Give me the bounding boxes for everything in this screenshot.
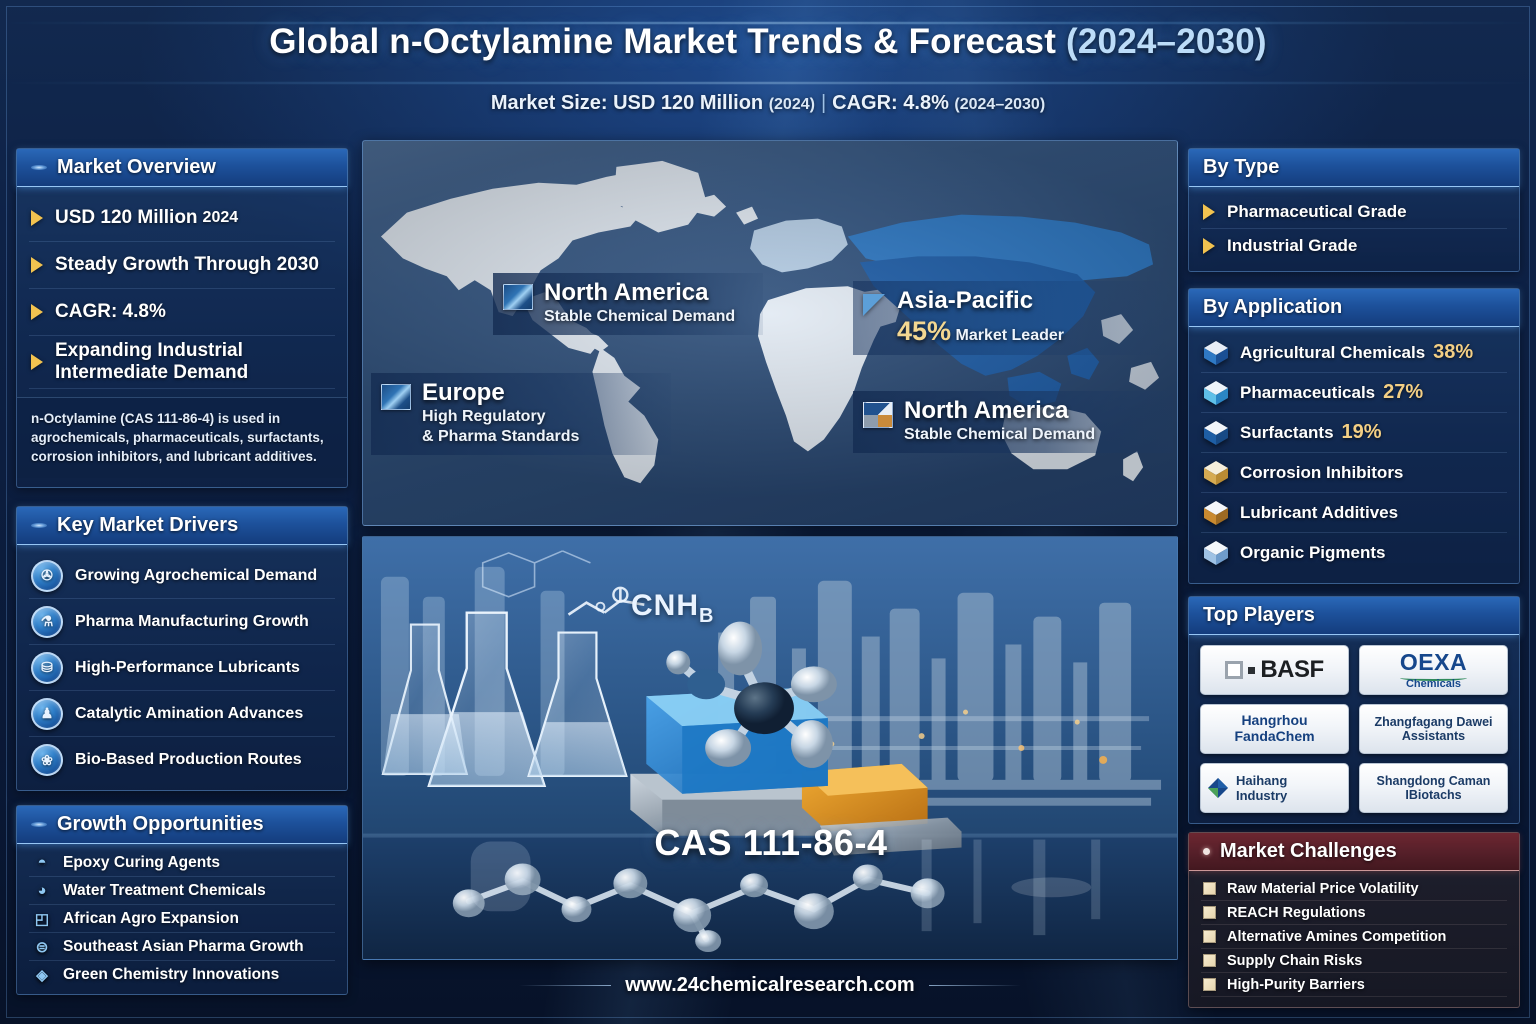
caman-line2: IBiotachs bbox=[1377, 788, 1491, 802]
list-item[interactable]: Lubricant Additives bbox=[1201, 493, 1507, 533]
water-drop-icon: ◕ bbox=[31, 880, 53, 902]
crop-field-icon: ✇ bbox=[31, 560, 63, 592]
basf-square-icon bbox=[1225, 661, 1243, 679]
challenge-label: Supply Chain Risks bbox=[1227, 953, 1362, 969]
dawei-line2: Assistants bbox=[1374, 729, 1492, 743]
logo-card-basf[interactable]: BASF bbox=[1200, 645, 1349, 695]
panel-header-top-players: Top Players bbox=[1189, 597, 1519, 635]
list-item[interactable]: Corrosion Inhibitors bbox=[1201, 453, 1507, 493]
list-item[interactable]: ♟ Catalytic Amination Advances bbox=[29, 691, 335, 737]
map-label-title: Europe bbox=[422, 380, 579, 405]
blue-cube-icon bbox=[1203, 340, 1229, 366]
application-label: Surfactants bbox=[1240, 423, 1334, 443]
haihang-diamond-icon bbox=[1207, 777, 1229, 799]
oil-drum-icon: ⛁ bbox=[31, 652, 63, 684]
application-label: Corrosion Inhibitors bbox=[1240, 463, 1403, 483]
triangle-bullet-icon bbox=[31, 354, 43, 370]
subtitle-cagr: CAGR: 4.8% bbox=[832, 92, 954, 114]
basf-logo: BASF bbox=[1225, 656, 1323, 684]
panel-header-growth-opportunities: Growth Opportunities bbox=[17, 806, 347, 844]
triangle-bullet-icon bbox=[31, 257, 43, 273]
list-item[interactable]: Raw Material Price Volatility bbox=[1201, 877, 1507, 901]
triangle-bullet-icon bbox=[31, 304, 43, 320]
lab-thumbnail-icon bbox=[503, 284, 533, 310]
list-item[interactable]: Organic Pigments bbox=[1201, 533, 1507, 573]
application-percent: 19% bbox=[1342, 421, 1382, 444]
application-label: Pharmaceuticals bbox=[1240, 383, 1375, 403]
triangle-bullet-icon bbox=[31, 210, 43, 226]
application-percent: 38% bbox=[1433, 341, 1473, 364]
glow-dot-icon bbox=[31, 822, 47, 827]
page-subtitle: Market Size: USD 120 Million (2024)|CAGR… bbox=[0, 92, 1536, 115]
footer-rule-right bbox=[929, 985, 1021, 986]
amber-cube-icon bbox=[1203, 500, 1229, 526]
application-label: Agricultural Chemicals bbox=[1240, 343, 1425, 363]
list-item[interactable]: Pharmaceutical Grade bbox=[1201, 195, 1507, 229]
map-label-title: North America bbox=[544, 280, 735, 305]
list-item[interactable]: ✇ Growing Agrochemical Demand bbox=[29, 553, 335, 599]
triangle-marker-icon bbox=[863, 294, 885, 316]
lab-scene-graphic bbox=[363, 537, 1177, 959]
map-label-title: North America bbox=[904, 398, 1095, 423]
list-item[interactable]: Expanding Industrial Intermediate Demand bbox=[29, 336, 335, 389]
list-item[interactable]: ◈ Green Chemistry Innovations bbox=[29, 961, 335, 989]
basf-wordmark: BASF bbox=[1260, 656, 1323, 684]
square-bullet-icon bbox=[1203, 906, 1216, 919]
panel-body-by-application: Agricultural Chemicals 38% Pharmaceutica… bbox=[1189, 327, 1519, 579]
infographic-root: Global n-Octylamine Market Trends & Fore… bbox=[0, 0, 1536, 1024]
overview-item-year: 2024 bbox=[203, 209, 239, 227]
panel-growth-opportunities: Growth Opportunities ◓ Epoxy Curing Agen… bbox=[16, 805, 348, 995]
challenge-label: Raw Material Price Volatility bbox=[1227, 881, 1419, 897]
challenge-label: Alternative Amines Competition bbox=[1227, 929, 1446, 945]
pharma-factory-icon: ⚗ bbox=[31, 606, 63, 638]
panel-header-by-type: By Type bbox=[1189, 149, 1519, 187]
header-light-streak-bottom bbox=[0, 82, 1536, 84]
growth-label: Epoxy Curing Agents bbox=[63, 854, 220, 872]
panel-title: Growth Opportunities bbox=[57, 813, 264, 836]
world-map-card: North America Stable Chemical Demand Eur… bbox=[362, 140, 1178, 526]
panel-top-players: Top Players BASF OEXA Chemicals bbox=[1188, 596, 1520, 824]
triangle-bullet-icon bbox=[1203, 238, 1215, 254]
overview-item-label: CAGR: 4.8% bbox=[55, 301, 166, 323]
logo-card-haihang-industry[interactable]: Haihang Industry bbox=[1200, 763, 1349, 813]
map-label-subtitle: Stable Chemical Demand bbox=[544, 307, 735, 327]
haihang-logo: Haihang Industry bbox=[1207, 773, 1342, 803]
panel-market-overview: Market Overview USD 120 Million 2024 Ste… bbox=[16, 148, 348, 488]
panel-body-growth-opportunities: ◓ Epoxy Curing Agents ◕ Water Treatment … bbox=[17, 844, 347, 995]
panel-header-market-challenges: Market Challenges bbox=[1189, 833, 1519, 871]
panel-header-key-market-drivers: Key Market Drivers bbox=[17, 507, 347, 545]
lab-thumbnail-icon bbox=[381, 384, 411, 410]
subtitle-market-size: Market Size: USD 120 Million bbox=[491, 92, 769, 114]
footer: www.24chemicalresearch.com bbox=[362, 962, 1178, 1008]
square-bullet-icon bbox=[1203, 954, 1216, 967]
growth-label: Green Chemistry Innovations bbox=[63, 966, 279, 984]
panel-body-market-challenges: Raw Material Price Volatility REACH Regu… bbox=[1189, 871, 1519, 1003]
oexa-tagline: Chemicals bbox=[1400, 679, 1467, 690]
footer-rule-left bbox=[519, 985, 611, 986]
list-item[interactable]: CAGR: 4.8% bbox=[29, 289, 335, 336]
map-label-percent: 45% bbox=[897, 316, 951, 346]
growth-label: Water Treatment Chemicals bbox=[63, 882, 266, 900]
page-title: Global n-Octylamine Market Trends & Fore… bbox=[0, 22, 1536, 62]
list-item[interactable]: REACH Regulations bbox=[1201, 901, 1507, 925]
top-players-grid: BASF OEXA Chemicals Hangrhou FandaChem bbox=[1200, 645, 1508, 813]
green-leaf-icon: ◈ bbox=[31, 964, 53, 986]
list-item[interactable]: Pharmaceuticals 27% bbox=[1201, 373, 1507, 413]
map-label-subtitle: Market Leader bbox=[956, 327, 1065, 344]
caman-wordmark: Shangdong Caman IBiotachs bbox=[1377, 774, 1491, 802]
list-item[interactable]: Agricultural Chemicals 38% bbox=[1201, 333, 1507, 373]
resin-drop-icon: ◓ bbox=[31, 852, 53, 874]
square-bullet-icon bbox=[1203, 930, 1216, 943]
driver-label: Pharma Manufacturing Growth bbox=[75, 613, 309, 631]
steel-cube-icon bbox=[1203, 420, 1229, 446]
list-item[interactable]: ⛁ High-Performance Lubricants bbox=[29, 645, 335, 691]
square-bullet-icon bbox=[1203, 882, 1216, 895]
watering-can-icon: ◰ bbox=[31, 908, 53, 930]
map-label-title: Asia-Pacific bbox=[897, 288, 1064, 313]
growth-label: Southeast Asian Pharma Growth bbox=[63, 938, 304, 956]
map-label-north-america-top[interactable]: North America Stable Chemical Demand bbox=[493, 273, 763, 335]
list-item[interactable]: ◰ African Agro Expansion bbox=[29, 905, 335, 933]
panel-key-market-drivers: Key Market Drivers ✇ Growing Agrochemica… bbox=[16, 506, 348, 791]
dawei-wordmark: Zhangfagang Dawei Assistants bbox=[1374, 715, 1492, 743]
logo-card-dawei-assistants[interactable]: Zhangfagang Dawei Assistants bbox=[1359, 704, 1508, 754]
triangle-bullet-icon bbox=[1203, 204, 1215, 220]
list-item[interactable]: ◕ Water Treatment Chemicals bbox=[29, 877, 335, 905]
map-label-subtitle: Stable Chemical Demand bbox=[904, 425, 1095, 445]
glow-dot-icon bbox=[31, 165, 47, 170]
driver-label: Catalytic Amination Advances bbox=[75, 705, 303, 723]
glow-dot-icon bbox=[31, 523, 47, 528]
panel-body-market-overview: USD 120 Million 2024 Steady Growth Throu… bbox=[17, 187, 347, 478]
panel-title: By Application bbox=[1203, 296, 1342, 319]
flag-thumbnail-icon bbox=[863, 402, 893, 428]
panel-body-key-market-drivers: ✇ Growing Agrochemical Demand ⚗ Pharma M… bbox=[17, 545, 347, 793]
overview-item-label: USD 120 Million bbox=[55, 207, 198, 229]
haihang-wordmark: Haihang Industry bbox=[1236, 773, 1342, 803]
cyan-cube-icon bbox=[1203, 380, 1229, 406]
bio-leaf-icon: ❀ bbox=[31, 744, 63, 776]
application-label: Lubricant Additives bbox=[1240, 503, 1398, 523]
panel-title: Market Challenges bbox=[1220, 840, 1397, 863]
oexa-logo: OEXA Chemicals bbox=[1400, 651, 1467, 690]
panel-by-type: By Type Pharmaceutical Grade Industrial … bbox=[1188, 148, 1520, 272]
basf-dot-icon bbox=[1248, 667, 1255, 674]
page-title-main: Global n-Octylamine Market Trends & Fore… bbox=[269, 22, 1066, 61]
subtitle-market-size-year: (2024) bbox=[769, 96, 815, 113]
list-item[interactable]: Surfactants 19% bbox=[1201, 413, 1507, 453]
challenge-label: REACH Regulations bbox=[1227, 905, 1366, 921]
fandachem-wordmark: Hangrhou FandaChem bbox=[1234, 713, 1314, 744]
oexa-wordmark: OEXA bbox=[1400, 651, 1467, 674]
logo-card-oexa[interactable]: OEXA Chemicals bbox=[1359, 645, 1508, 695]
fandachem-line2: FandaChem bbox=[1234, 729, 1314, 745]
list-item[interactable]: Steady Growth Through 2030 bbox=[29, 242, 335, 289]
dawei-line1: Zhangfagang Dawei bbox=[1374, 715, 1492, 729]
cas-number-label: CAS 111-86-4 bbox=[363, 822, 1178, 864]
panel-title: Market Overview bbox=[57, 156, 216, 179]
panel-title: Key Market Drivers bbox=[57, 514, 238, 537]
application-label: Organic Pigments bbox=[1240, 543, 1385, 563]
challenge-label: High-Purity Barriers bbox=[1227, 977, 1365, 993]
panel-title: Top Players bbox=[1203, 604, 1315, 627]
map-label-north-america-bottom[interactable]: North America Stable Chemical Demand bbox=[853, 391, 1173, 453]
header: Global n-Octylamine Market Trends & Fore… bbox=[0, 0, 1536, 136]
page-title-years: (2024–2030) bbox=[1066, 22, 1267, 61]
subtitle-cagr-range: (2024–2030) bbox=[954, 96, 1045, 113]
logo-card-caman-biotachs[interactable]: Shangdong Caman IBiotachs bbox=[1359, 763, 1508, 813]
application-percent: 27% bbox=[1383, 381, 1423, 404]
type-label: Pharmaceutical Grade bbox=[1227, 202, 1407, 222]
scientist-icon: ♟ bbox=[31, 698, 63, 730]
overview-item-label: Steady Growth Through 2030 bbox=[55, 254, 319, 276]
list-item[interactable]: Industrial Grade bbox=[1201, 229, 1507, 263]
overview-description-note: n-Octylamine (CAS 111-86-4) is used in a… bbox=[17, 397, 347, 478]
fandachem-line1: Hangrhou bbox=[1234, 713, 1314, 729]
list-item[interactable]: USD 120 Million 2024 bbox=[29, 195, 335, 242]
list-item[interactable]: ◓ Epoxy Curing Agents bbox=[29, 849, 335, 877]
panel-title: By Type bbox=[1203, 156, 1279, 179]
formula-prefix: CNH bbox=[631, 589, 699, 622]
growth-label: African Agro Expansion bbox=[63, 910, 239, 928]
footer-url[interactable]: www.24chemicalresearch.com bbox=[625, 974, 914, 997]
map-label-asia-pacific[interactable]: Asia-Pacific 45% Market Leader bbox=[853, 281, 1173, 355]
driver-label: Growing Agrochemical Demand bbox=[75, 567, 317, 585]
list-item[interactable]: ❀ Bio-Based Production Routes bbox=[29, 737, 335, 783]
map-label-subtitle-line1: High Regulatory bbox=[422, 407, 579, 427]
list-item[interactable]: Supply Chain Risks bbox=[1201, 949, 1507, 973]
map-label-europe[interactable]: Europe High Regulatory & Pharma Standard… bbox=[371, 373, 671, 455]
list-item[interactable]: ⊜ Southeast Asian Pharma Growth bbox=[29, 933, 335, 961]
gold-cube-icon bbox=[1203, 460, 1229, 486]
laboratory-industry-image: CNHB CAS 111-86-4 bbox=[362, 536, 1178, 960]
type-label: Industrial Grade bbox=[1227, 236, 1357, 256]
overview-item-label: Expanding Industrial Intermediate Demand bbox=[55, 340, 300, 384]
chemical-formula-sketch: CNHB bbox=[631, 589, 714, 628]
panel-header-market-overview: Market Overview bbox=[17, 149, 347, 187]
bullet-dot-icon bbox=[1203, 848, 1210, 855]
capsule-icon: ⊜ bbox=[31, 936, 53, 958]
white-cube-icon bbox=[1203, 540, 1229, 566]
driver-label: Bio-Based Production Routes bbox=[75, 751, 302, 769]
panel-header-by-application: By Application bbox=[1189, 289, 1519, 327]
list-item[interactable]: High-Purity Barriers bbox=[1201, 973, 1507, 997]
formula-subscript: B bbox=[699, 605, 714, 627]
panel-market-challenges: Market Challenges Raw Material Price Vol… bbox=[1188, 832, 1520, 1008]
list-item[interactable]: ⚗ Pharma Manufacturing Growth bbox=[29, 599, 335, 645]
map-label-subtitle-line2: & Pharma Standards bbox=[422, 427, 579, 447]
subtitle-separator: | bbox=[815, 92, 832, 114]
caman-line1: Shangdong Caman bbox=[1377, 774, 1491, 788]
square-bullet-icon bbox=[1203, 978, 1216, 991]
logo-card-fandachem[interactable]: Hangrhou FandaChem bbox=[1200, 704, 1349, 754]
list-item[interactable]: Alternative Amines Competition bbox=[1201, 925, 1507, 949]
panel-body-by-type: Pharmaceutical Grade Industrial Grade bbox=[1189, 187, 1519, 273]
panel-body-top-players: BASF OEXA Chemicals Hangrhou FandaChem bbox=[1189, 635, 1519, 823]
panel-by-application: By Application Agricultural Chemicals 38… bbox=[1188, 288, 1520, 584]
driver-label: High-Performance Lubricants bbox=[75, 659, 300, 677]
